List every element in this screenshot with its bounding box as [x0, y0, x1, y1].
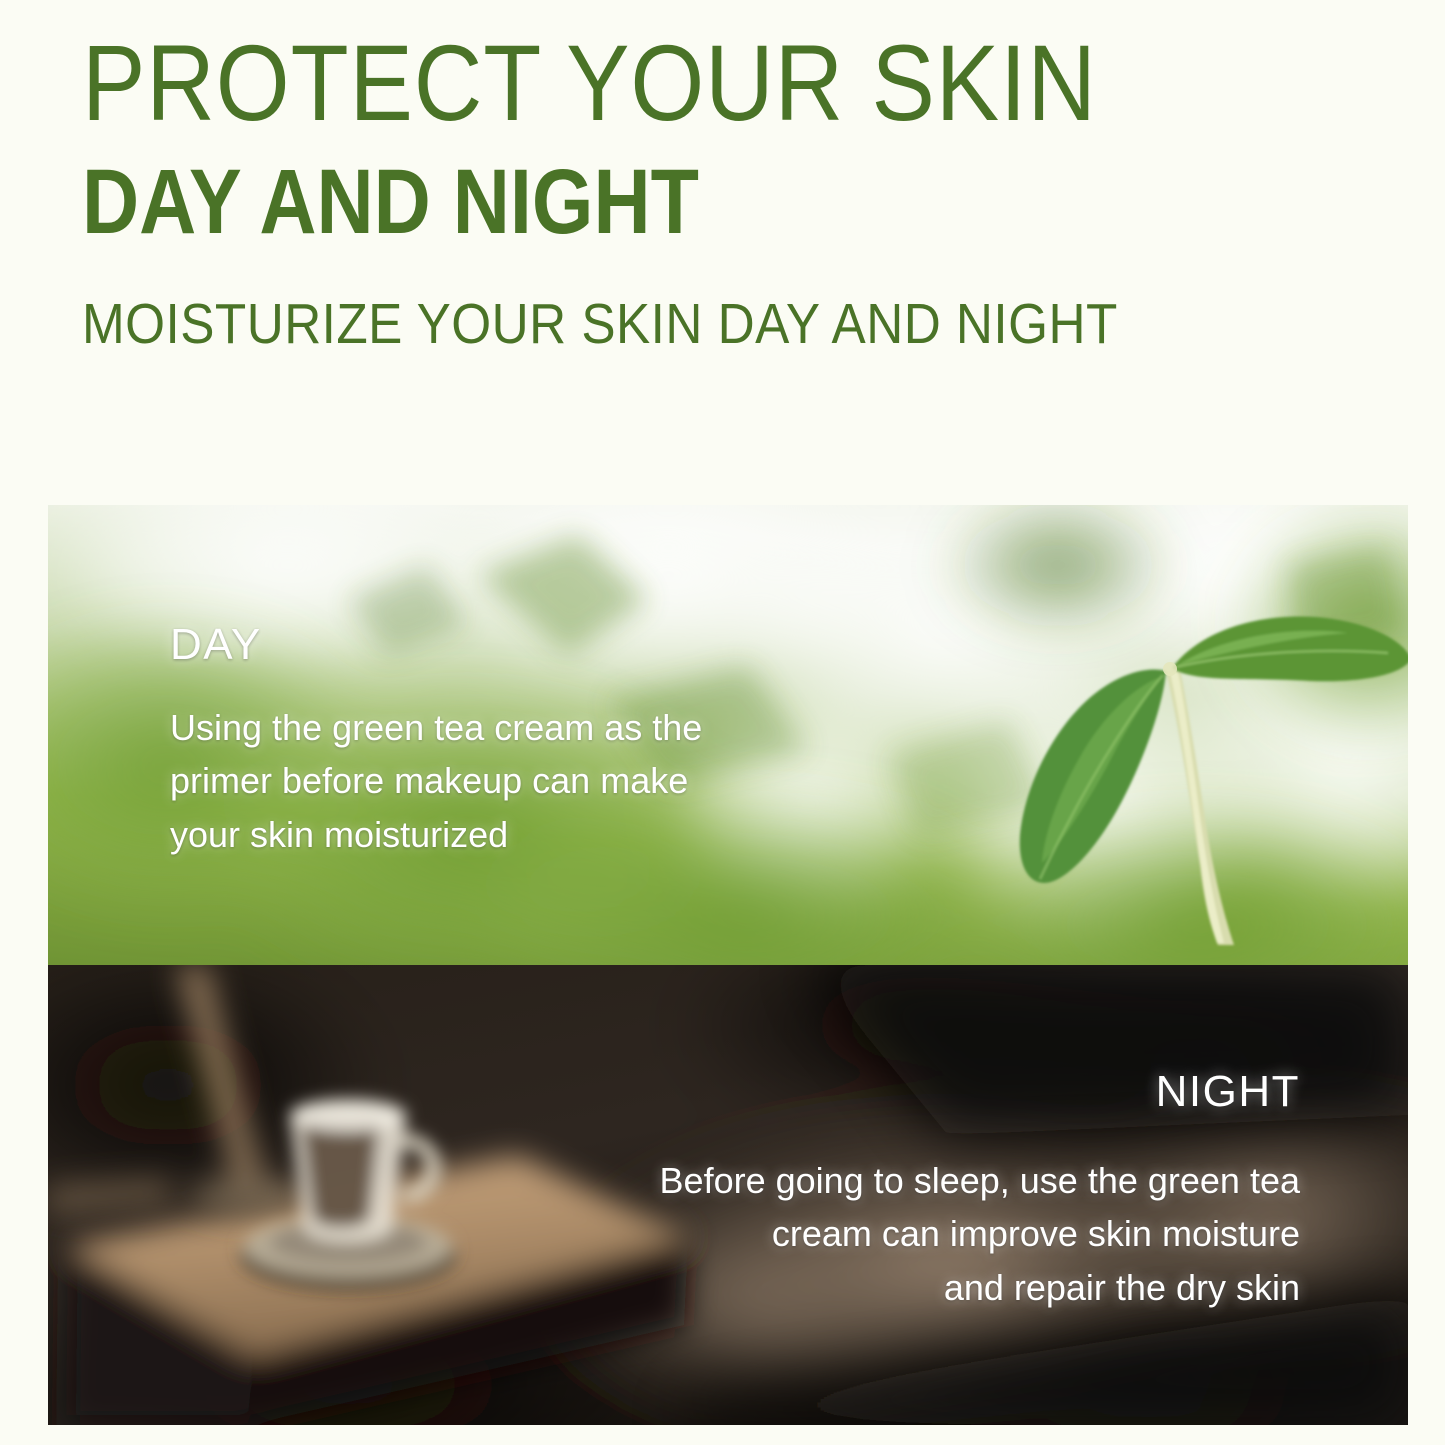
headline-secondary: DAY AND NIGHT	[82, 154, 1191, 251]
day-label: DAY	[170, 623, 702, 667]
day-text-block: DAY Using the green tea cream as the pri…	[170, 623, 702, 861]
promo-banner: PROTECT YOUR SKIN DAY AND NIGHT MOISTURI…	[0, 0, 1445, 1445]
header-block: PROTECT YOUR SKIN DAY AND NIGHT MOISTURI…	[82, 28, 1372, 355]
day-description: Using the green tea cream as the primer …	[170, 701, 702, 861]
night-panel: NIGHT Before going to sleep, use the gre…	[48, 965, 1408, 1425]
night-description: Before going to sleep, use the green tea…	[660, 1154, 1300, 1314]
headline-primary: PROTECT YOUR SKIN	[82, 28, 1217, 138]
subheadline: MOISTURIZE YOUR SKIN DAY AND NIGHT	[82, 293, 1243, 356]
day-panel: DAY Using the green tea cream as the pri…	[48, 505, 1408, 965]
night-label: NIGHT	[660, 1070, 1300, 1114]
panel-stack: DAY Using the green tea cream as the pri…	[48, 505, 1408, 1425]
night-text-block: NIGHT Before going to sleep, use the gre…	[660, 1070, 1300, 1314]
